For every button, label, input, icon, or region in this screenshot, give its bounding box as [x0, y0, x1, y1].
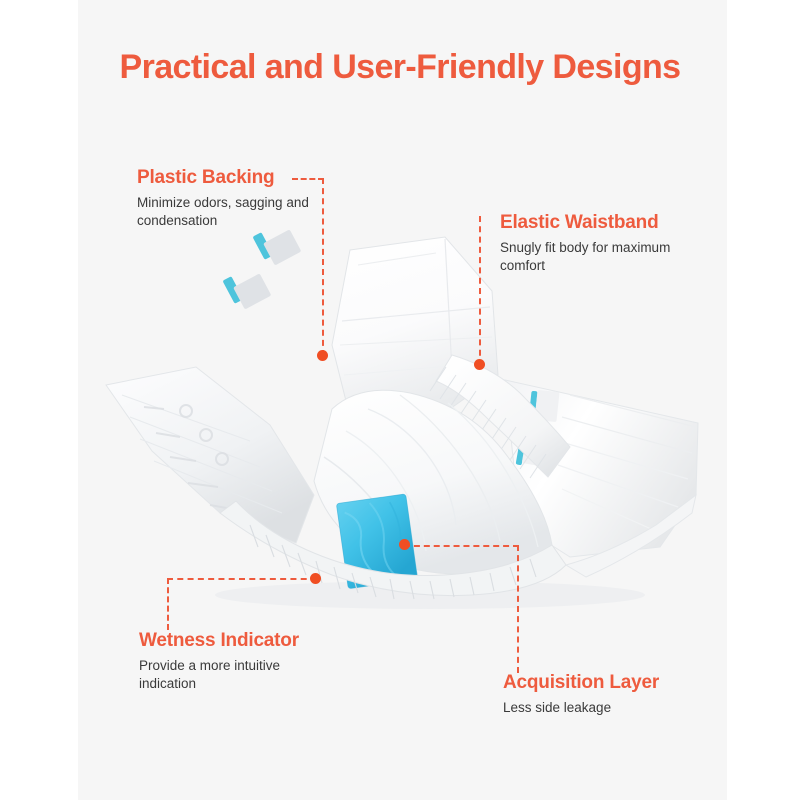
callout-plastic-backing-title: Plastic Backing [137, 167, 322, 189]
callout-plastic-backing-description: Minimize odors, sagging and condensation [137, 194, 322, 230]
callout-acquisition-layer-description: Less side leakage [503, 699, 703, 717]
connector-plastic-backing-vertical [322, 178, 324, 356]
page-title: Practical and User-Friendly Designs [0, 48, 800, 87]
callout-wetness-indicator: Wetness Indicator Provide a more intuiti… [139, 630, 334, 693]
connector-acquisition-layer-vertical [517, 545, 519, 673]
marker-dot-elastic-waistband [474, 359, 485, 370]
marker-dot-plastic-backing [317, 350, 328, 361]
connector-elastic-waistband-vertical [479, 216, 481, 366]
callout-wetness-indicator-description: Provide a more intuitive indication [139, 657, 334, 693]
marker-dot-wetness-indicator [310, 573, 321, 584]
left-flap-panel [106, 367, 314, 543]
connector-wetness-indicator-horizontal [167, 578, 317, 580]
fastening-tab-upper [252, 229, 301, 265]
marker-dot-acquisition-layer [399, 539, 410, 550]
connector-acquisition-layer-horizontal [404, 545, 519, 547]
callout-acquisition-layer-title: Acquisition Layer [503, 672, 703, 694]
callout-elastic-waistband-description: Snugly fit body for maximum comfort [500, 239, 700, 275]
callout-elastic-waistband-title: Elastic Waistband [500, 212, 700, 234]
callout-elastic-waistband: Elastic Waistband Snugly fit body for ma… [500, 212, 700, 275]
callout-plastic-backing: Plastic Backing Minimize odors, sagging … [137, 167, 322, 230]
callout-wetness-indicator-title: Wetness Indicator [139, 630, 334, 652]
infographic-canvas: Practical and User-Friendly Designs Plas… [0, 0, 800, 800]
connector-wetness-indicator-vertical [167, 578, 169, 630]
callout-acquisition-layer: Acquisition Layer Less side leakage [503, 672, 703, 717]
fastening-tab-lower [222, 273, 271, 309]
